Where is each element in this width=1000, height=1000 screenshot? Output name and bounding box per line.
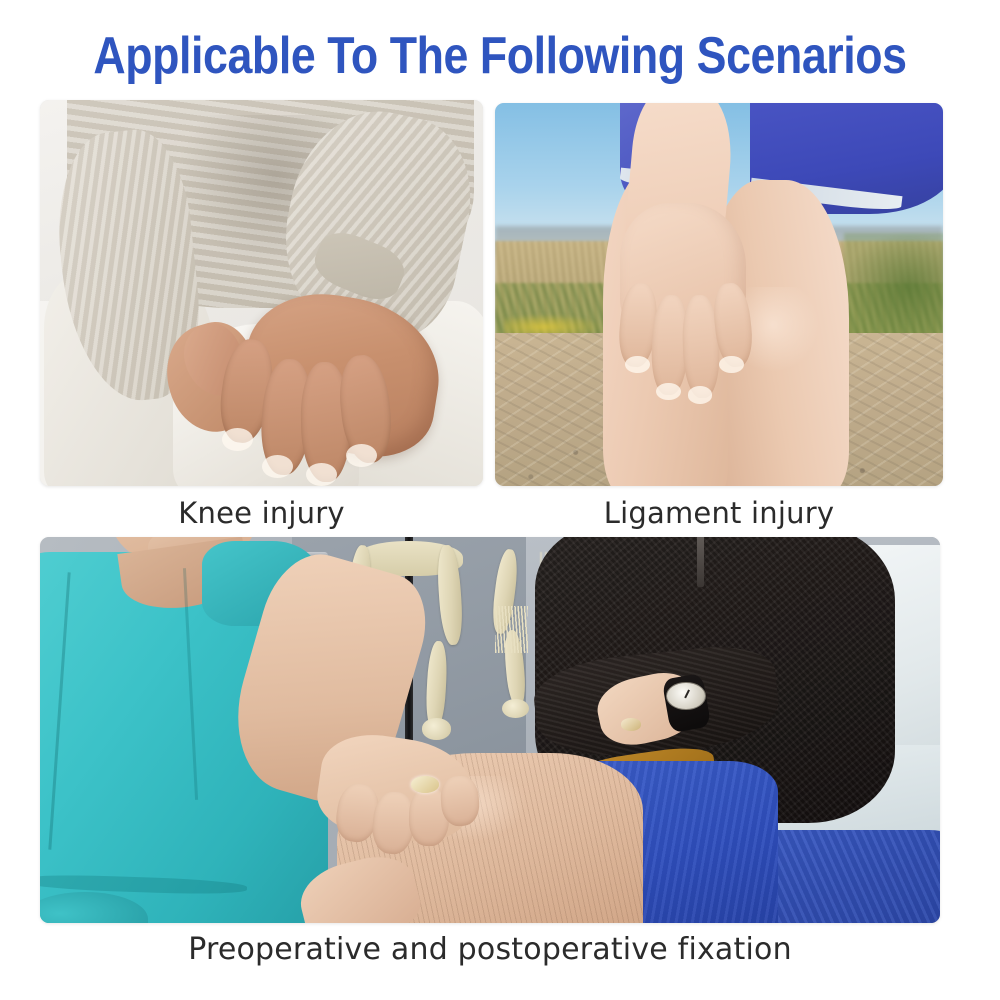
skeleton-knee-joint xyxy=(502,699,529,718)
fingernail xyxy=(719,356,744,373)
fingernail xyxy=(306,463,337,486)
fingernail xyxy=(262,455,293,478)
shrub-right xyxy=(844,233,943,340)
fixation-photo xyxy=(40,537,940,923)
skeleton-knee-joint xyxy=(422,718,452,739)
fingernail xyxy=(656,383,681,400)
caption-ligament-injury: Ligament injury xyxy=(495,496,943,530)
fingernail xyxy=(346,444,377,467)
wedding-ring xyxy=(621,718,642,730)
ligament-injury-photo xyxy=(495,103,943,486)
knee-injury-photo xyxy=(40,100,483,486)
caption-knee-injury: Knee injury xyxy=(40,496,483,530)
fingernail xyxy=(688,386,713,403)
clinician-ring xyxy=(411,776,439,792)
scenario-image-ligament-injury xyxy=(495,103,943,486)
scenario-image-fixation xyxy=(40,537,940,923)
caption-fixation: Preoperative and postoperative fixation xyxy=(40,933,940,967)
scenario-image-knee-injury xyxy=(40,100,483,486)
page-title: Applicable To The Following Scenarios xyxy=(70,28,930,84)
fleece-zipper xyxy=(697,537,704,587)
skeleton-hand-bones xyxy=(495,606,527,652)
fingernail xyxy=(625,356,650,373)
fingernail xyxy=(222,428,253,451)
